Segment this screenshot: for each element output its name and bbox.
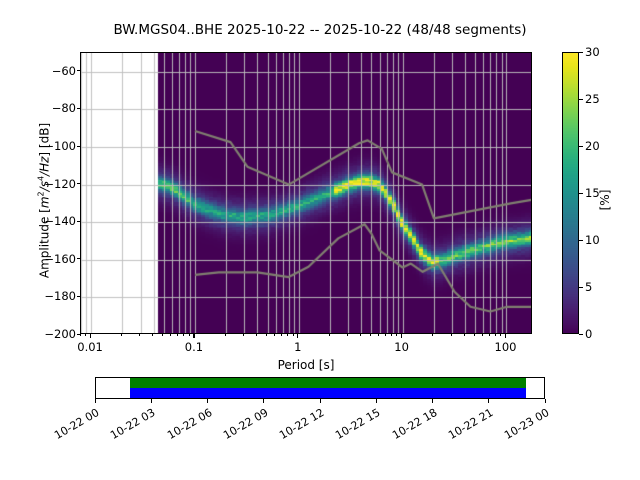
colorbar-tick-mark	[579, 99, 583, 100]
colorbar-tick-mark	[579, 146, 583, 147]
x-axis-tick-label: 1	[294, 340, 301, 354]
x-axis-tick-label: 0.01	[77, 340, 103, 354]
y-axis-tick-mark	[77, 221, 81, 222]
x-axis-minor-tick	[495, 334, 496, 336]
timeline-tick-mark	[432, 399, 433, 403]
timeline-tick-label: 10-23 00	[500, 406, 552, 443]
timeline-axes[interactable]	[95, 377, 545, 399]
x-axis-minor-tick	[121, 334, 122, 336]
x-axis-minor-tick	[378, 334, 379, 336]
x-axis-minor-tick	[360, 334, 361, 336]
x-axis-minor-tick	[432, 334, 433, 336]
y-axis-label: Amplitude [m2/s4/Hz] [dB]	[37, 51, 52, 351]
timeline-tick-label: 10-22 00	[50, 406, 102, 443]
colorbar-tick-mark	[579, 287, 583, 288]
x-axis-minor-tick	[170, 334, 171, 336]
colorbar-tick-mark	[579, 334, 583, 335]
colorbar-tick-label: 30	[585, 45, 600, 59]
x-axis-minor-tick	[347, 334, 348, 336]
x-axis-minor-tick	[266, 334, 267, 336]
x-axis-tick-mark	[505, 334, 506, 338]
x-axis-minor-tick	[152, 334, 153, 336]
x-axis-minor-tick	[385, 334, 386, 336]
x-axis-minor-tick	[329, 334, 330, 336]
x-axis-minor-tick	[451, 334, 452, 336]
x-axis-tick-mark	[297, 334, 298, 338]
colorbar-gradient	[563, 53, 579, 334]
timeline-tick-mark	[376, 399, 377, 403]
timeline-tick-mark	[207, 399, 208, 403]
timeline-tick-mark	[151, 399, 152, 403]
x-axis-minor-tick	[256, 334, 257, 336]
y-axis-tick-mark	[77, 146, 81, 147]
x-axis-minor-tick	[162, 334, 163, 336]
x-axis-minor-tick	[139, 334, 140, 336]
x-axis-tick-label: 0.1	[185, 340, 203, 354]
page-title: BW.MGS04..BHE 2025-10-22 -- 2025-10-22 (…	[0, 22, 640, 38]
colorbar-tick-mark	[579, 240, 583, 241]
x-axis-minor-tick	[391, 334, 392, 336]
timeline-tick-mark	[263, 399, 264, 403]
timeline-coverage-bar	[130, 378, 526, 398]
x-axis-minor-tick	[243, 334, 244, 336]
x-axis-minor-tick	[177, 334, 178, 336]
x-axis-tick-mark	[401, 334, 402, 338]
ppsd-heatmap-canvas	[81, 53, 532, 334]
timeline-tick-label: 10-22 03	[106, 406, 158, 443]
timeline-tick-label: 10-22 15	[331, 406, 383, 443]
timeline-segment-blue	[130, 388, 526, 398]
y-axis-tick-mark	[77, 296, 81, 297]
timeline-tick-mark	[95, 399, 96, 403]
timeline-tick-label: 10-22 09	[219, 406, 271, 443]
y-axis-tick-mark	[77, 70, 81, 71]
timeline-tick-mark	[320, 399, 321, 403]
colorbar-tick-label: 20	[585, 139, 600, 153]
x-axis-minor-tick	[396, 334, 397, 336]
timeline-segment-green	[130, 378, 526, 388]
x-axis-minor-tick	[464, 334, 465, 336]
x-axis-minor-tick	[287, 334, 288, 336]
timeline-tick-label: 10-22 21	[444, 406, 496, 443]
timeline-tick-mark	[545, 399, 546, 403]
timeline-tick-mark	[488, 399, 489, 403]
x-axis-minor-tick	[293, 334, 294, 336]
y-axis-tick-mark	[77, 108, 81, 109]
ppsd-plot-axes	[80, 52, 532, 334]
x-axis-minor-tick	[474, 334, 475, 336]
colorbar-tick-mark	[579, 193, 583, 194]
x-axis-minor-tick	[225, 334, 226, 336]
y-axis-tick-label: −60	[52, 64, 76, 78]
x-axis-tick-mark	[90, 334, 91, 338]
x-axis-minor-tick	[183, 334, 184, 336]
x-axis-minor-tick	[370, 334, 371, 336]
timeline-tick-label: 10-22 18	[387, 406, 439, 443]
colorbar-label: [%]	[598, 160, 612, 240]
x-axis-minor-tick	[500, 334, 501, 336]
x-axis-minor-tick	[274, 334, 275, 336]
timeline-tick-label: 10-22 12	[275, 406, 327, 443]
timeline-tick-label: 10-22 06	[162, 406, 214, 443]
colorbar-tick-label: 25	[585, 92, 600, 106]
x-axis-tick-label: 10	[394, 340, 409, 354]
colorbar-tick-mark	[579, 52, 583, 53]
x-axis-label: Period [s]	[80, 358, 532, 372]
x-axis-minor-tick	[85, 334, 86, 336]
x-axis-minor-tick	[482, 334, 483, 336]
x-axis-minor-tick	[189, 334, 190, 336]
colorbar-tick-label: 0	[585, 327, 592, 341]
y-axis-tick-label: −80	[52, 101, 76, 115]
y-axis-tick-mark	[77, 258, 81, 259]
colorbar-tick-label: 5	[585, 280, 592, 294]
x-axis-minor-tick	[80, 334, 81, 336]
colorbar	[562, 52, 579, 334]
y-axis-tick-mark	[77, 183, 81, 184]
x-axis-tick-mark	[193, 334, 194, 338]
x-axis-minor-tick	[489, 334, 490, 336]
x-axis-minor-tick	[281, 334, 282, 336]
x-axis-tick-label: 100	[495, 340, 517, 354]
